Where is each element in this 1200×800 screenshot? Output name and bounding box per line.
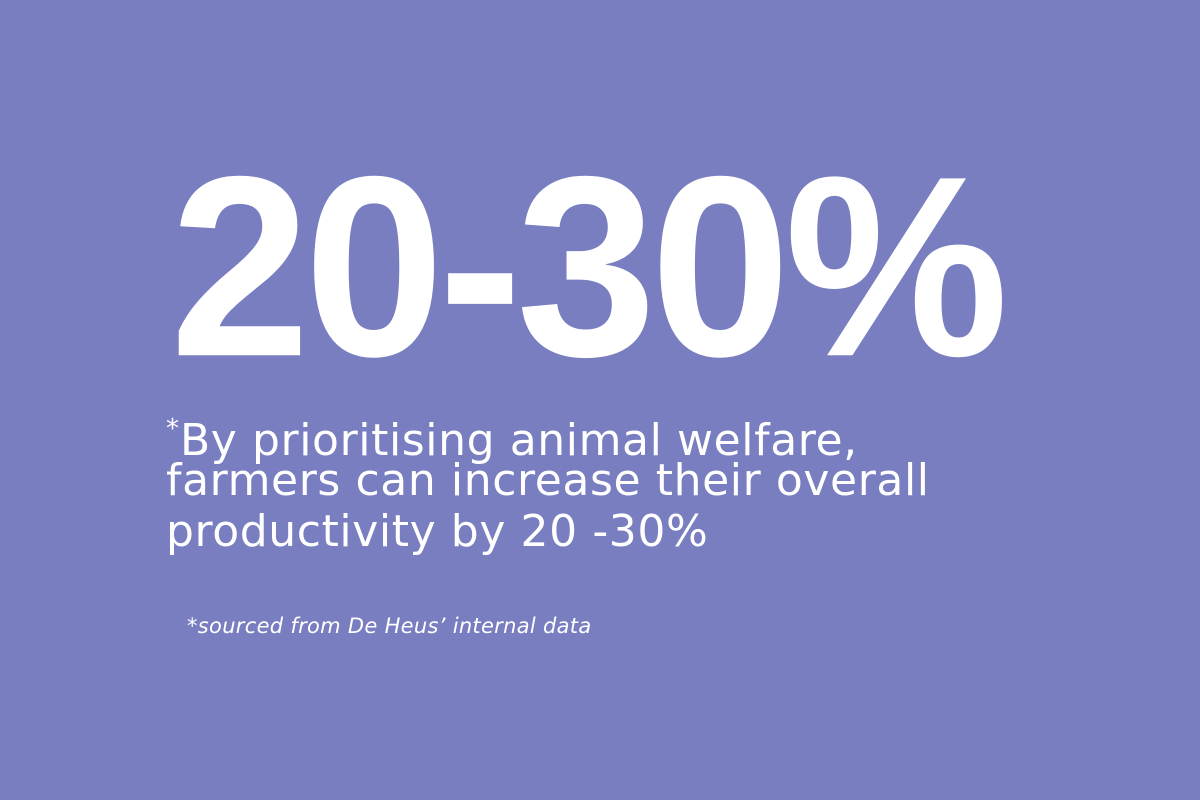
stat-slide: 20-30% *By prioritising animal welfare, … — [0, 0, 1200, 800]
statement-line-3: productivity by 20 -30% — [166, 506, 1126, 557]
source-footnote: *sourced from De Heus’ internal data — [187, 612, 592, 640]
statement-line-2: farmers can increase their overall — [166, 455, 1126, 506]
footnote-marker-asterisk: * — [166, 414, 179, 444]
headline-statistic: 20-30% — [170, 140, 1170, 395]
statement-text: *By prioritising animal welfare, farmers… — [166, 404, 1126, 557]
statement-line-1: *By prioritising animal welfare, — [166, 404, 1126, 455]
